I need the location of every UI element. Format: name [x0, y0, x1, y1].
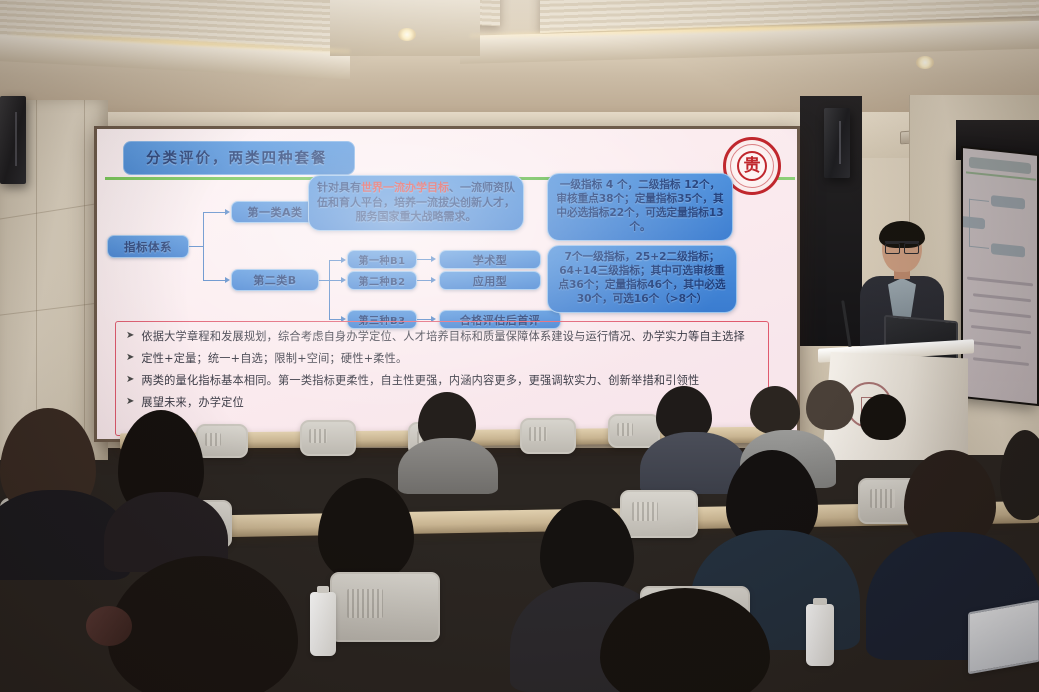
connector-line — [329, 260, 341, 261]
audience-head — [750, 386, 800, 434]
ceiling-downlight — [916, 56, 934, 69]
audience-head — [318, 478, 414, 582]
bullet-item: ➤ 定性+定量；统一+自选；限制+空间；硬性+柔性。 — [126, 350, 758, 367]
secondary-text-line — [971, 325, 1031, 334]
wall-seam — [84, 100, 85, 460]
bullet-text: 两类的量化指标基本相同。第一类指标更柔性，自主性更强，内涵内容更多，更强调软实力… — [141, 372, 699, 389]
connector-arrow — [431, 277, 436, 283]
chair-back — [620, 490, 698, 538]
flow-b1-type: 学术型 — [439, 250, 541, 269]
wall-seam — [36, 100, 37, 460]
glasses-icon — [885, 241, 919, 250]
flow-b2-code: 第二种B2 — [347, 271, 417, 290]
secondary-text-line — [967, 341, 1021, 350]
flow-root-box: 指标体系 — [107, 235, 189, 258]
stats-b-box: 7个一级指标，25+2二级指标；64+14三级指标；其中可选审核重点36个；定量… — [547, 245, 737, 313]
secondary-display-content — [963, 148, 1037, 404]
connector-line — [417, 280, 431, 281]
secondary-slide-title-bar — [969, 157, 1031, 175]
secondary-connector — [969, 199, 970, 247]
bullet-text: 依据大学章程和发展规划，综合考虑自身办学定位、人才培养目标和质量保障体系建设与运… — [141, 328, 745, 345]
bullet-text: 定性+定量；统一+自选；限制+空间；硬性+柔性。 — [141, 350, 407, 367]
secondary-connector — [969, 246, 989, 249]
secondary-text-line — [969, 309, 1031, 319]
connector-line — [189, 246, 203, 247]
flow-b1-code: 第一种B1 — [347, 250, 417, 269]
secondary-text-line — [973, 357, 1029, 366]
audience-head — [860, 394, 906, 440]
water-bottle — [310, 592, 336, 656]
connector-arrow — [225, 209, 230, 215]
secondary-flow-box — [991, 243, 1025, 258]
secondary-flow-box — [963, 216, 985, 230]
flow-b2-type: 应用型 — [439, 271, 541, 290]
wall-speaker-left — [0, 96, 26, 184]
secondary-flow-box — [991, 195, 1025, 210]
bullet-arrow-icon: ➤ — [126, 394, 134, 411]
secondary-display — [961, 146, 1039, 406]
flow-branch-a-box: 第一类A类 — [231, 201, 319, 223]
flow-branch-b-box: 第二类B — [231, 269, 319, 291]
chair-back — [196, 424, 248, 458]
ceiling-downlight — [398, 28, 416, 41]
ceiling — [0, 0, 1039, 122]
lecture-hall-scene: 分类评价，两类四种套餐 贵 指标体系 第一类A类 第二类B 针对具有世界一流办学… — [0, 0, 1039, 692]
slide-title: 分类评价，两类四种套餐 — [123, 141, 355, 175]
connector-line — [203, 212, 204, 280]
secondary-text-line — [967, 277, 1033, 287]
connector-arrow — [431, 256, 436, 262]
connector-line — [417, 259, 431, 260]
connector-line — [329, 280, 341, 281]
callout-a-box: 针对具有世界一流办学目标、一流师资队伍和育人平台，培养一流拔尖创新人才，服务国家… — [308, 175, 524, 231]
bullet-item: ➤ 两类的量化指标基本相同。第一类指标更柔性，自主性更强，内涵内容更多，更强调软… — [126, 372, 758, 389]
bullet-item: ➤ 依据大学章程和发展规划，综合考虑自身办学定位、人才培养目标和质量保障体系建设… — [126, 328, 758, 345]
bullet-arrow-icon: ➤ — [126, 372, 134, 389]
connector-line — [203, 212, 225, 213]
callout-a-highlight: 世界一流办学目标 — [361, 181, 449, 194]
bullet-arrow-icon: ➤ — [126, 350, 134, 367]
wall-speaker-right — [824, 108, 850, 178]
audience-head — [806, 380, 854, 430]
wall-seam — [0, 201, 108, 219]
chair-back — [330, 572, 440, 642]
secondary-text-line — [973, 293, 1031, 302]
stats-a-box: 一级指标 4 个，二级指标 12个，审核重点38个；定量指标35个，其中必选指标… — [547, 173, 733, 241]
chair-back — [520, 418, 576, 454]
connector-line — [329, 260, 330, 320]
wall-seam — [0, 301, 108, 315]
seal-ring — [730, 144, 774, 188]
connector-line — [319, 280, 329, 281]
audience-shoulders — [398, 438, 498, 494]
connector-arrow — [341, 277, 346, 283]
hair-tie — [86, 606, 132, 646]
audience-laptop — [968, 600, 1039, 675]
connector-arrow — [341, 257, 346, 263]
callout-a-before: 针对具有 — [317, 181, 361, 194]
connector-arrow — [225, 277, 230, 283]
connector-line — [203, 280, 225, 281]
chair-back — [300, 420, 356, 456]
water-bottle — [806, 604, 834, 666]
bullet-text: 展望未来，办学定位 — [141, 394, 244, 411]
audience-head-front — [108, 556, 298, 692]
secondary-connector — [969, 199, 989, 202]
chair-back — [608, 414, 660, 448]
bullet-arrow-icon: ➤ — [126, 328, 134, 345]
